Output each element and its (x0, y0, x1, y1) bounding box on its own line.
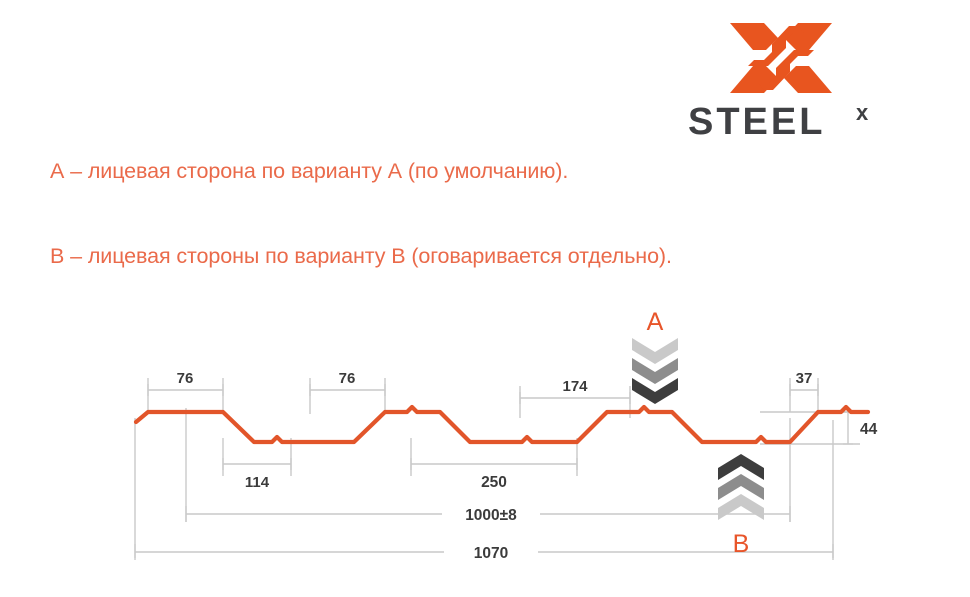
chevron-up-icon (718, 454, 764, 520)
wordmark-superscript-x: x (856, 100, 869, 125)
dimension-label-crest-second: 76 (339, 370, 356, 387)
marker-side-a: A (632, 308, 678, 404)
profile-technical-drawing: 44 76 76 114 (0, 290, 970, 590)
dimension-line-114 (223, 458, 291, 470)
brand-logo: STEEL x (688, 18, 928, 148)
dimension-label-end-crest: 37 (796, 370, 813, 387)
dimension-line-250 (411, 458, 577, 470)
legend-line-variant-a: А – лицевая сторона по варианту А (по ум… (50, 159, 568, 184)
dimension-label-height: 44 (860, 421, 878, 438)
wordmark-steel: STEEL (688, 101, 825, 143)
dimension-label-total-width: 1070 (474, 545, 508, 562)
marker-a-label: A (647, 308, 664, 336)
dimension-label-pitch: 250 (481, 474, 507, 491)
marker-side-b: B (718, 454, 764, 558)
chevron-down-icon (632, 338, 678, 404)
page-root: STEEL x А – лицевая сторона по варианту … (0, 0, 970, 597)
sheet-profile-outline (136, 407, 868, 442)
marker-b-label: B (733, 530, 750, 558)
dimension-label-effective-width: 1000±8 (465, 507, 517, 524)
brand-wordmark: STEEL x (688, 100, 928, 142)
dimension-height-44 (843, 412, 853, 444)
dimension-label-crest-left: 76 (177, 370, 194, 387)
dimension-label-valley: 114 (245, 474, 270, 491)
dimension-label-174: 174 (562, 378, 588, 395)
legend-line-variant-b: В – лицевая стороны по варианту В (огова… (50, 244, 672, 269)
steelx-x-logo-icon (726, 18, 836, 98)
